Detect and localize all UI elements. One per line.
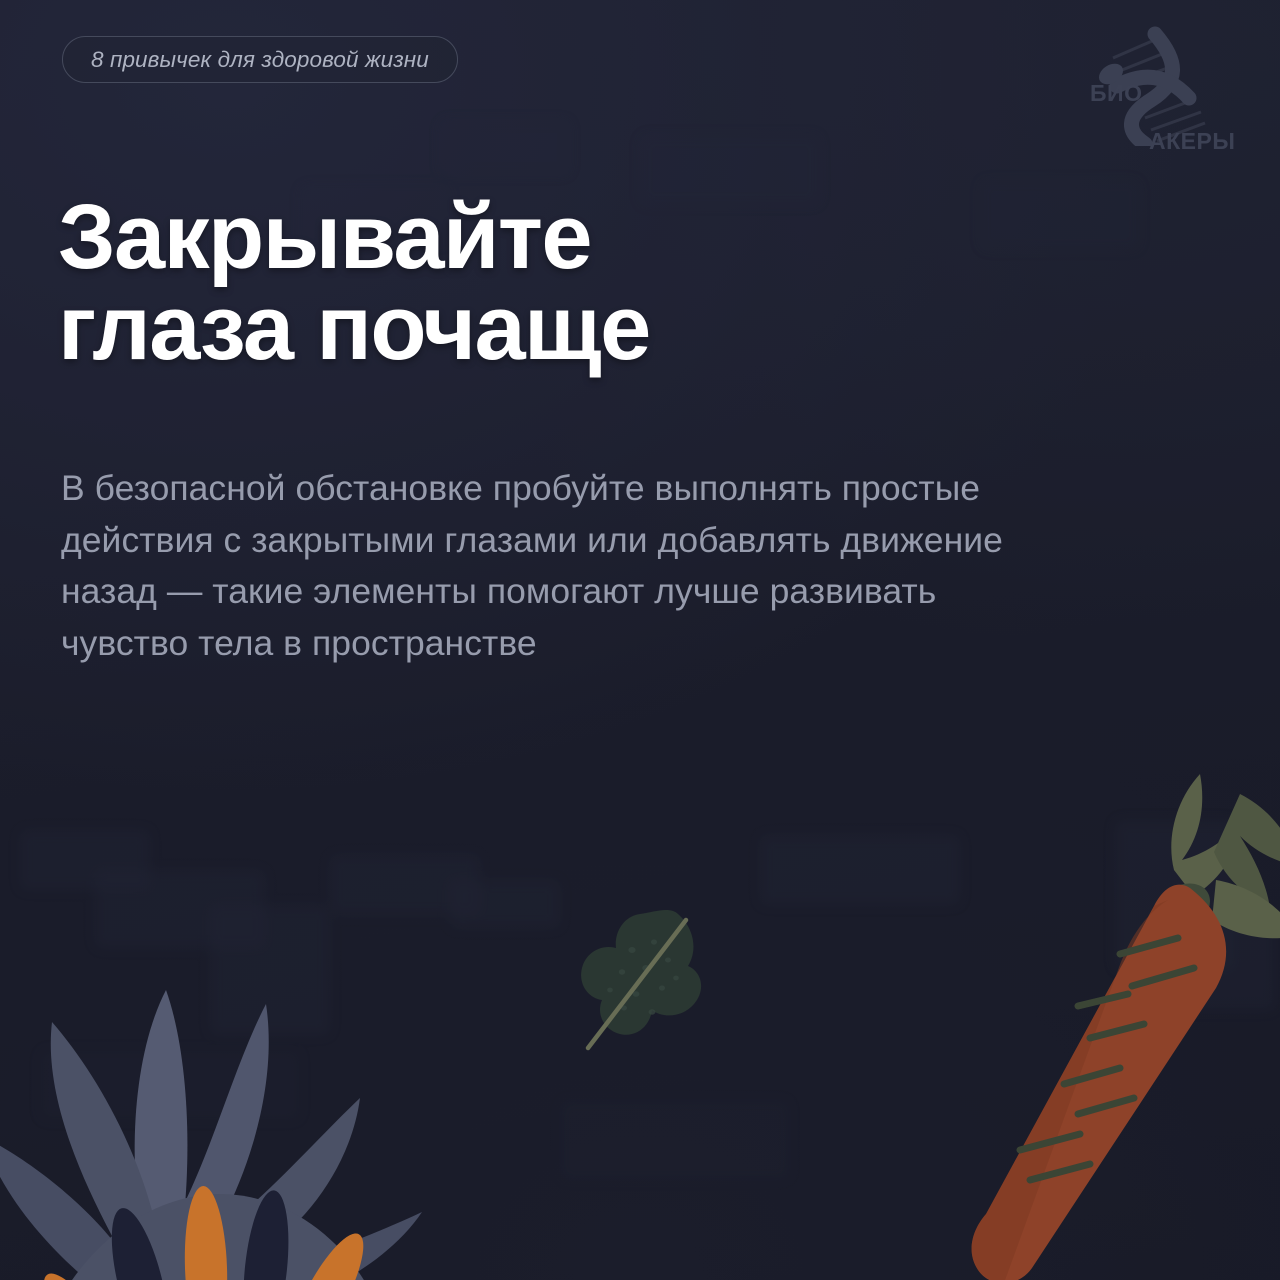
badge-label: 8 привычек для здоровой жизни (91, 47, 429, 73)
carrot-greens (1145, 774, 1280, 943)
brand-logo[interactable]: БИО АКЕРЫ (1045, 26, 1260, 146)
page-title: Закрывайте глаза почаще (58, 192, 998, 374)
carrot-stripes (1020, 938, 1194, 1180)
logo-word-bio: БИО (1090, 80, 1142, 107)
body-paragraph: В безопасной обстановке пробуйте выполня… (61, 463, 1071, 670)
page-title-line-2: глаза почаще (58, 283, 998, 374)
slide-canvas: 8 привычек для здоровой жизни БИО АКЕРЫ … (0, 0, 1280, 1280)
oak-leaf-illustration (566, 898, 716, 1063)
logo-word-hackers: АКЕРЫ (1149, 128, 1235, 155)
flower-illustration (0, 986, 440, 1280)
flower-outer-petals (0, 990, 422, 1280)
flower-inner-petals (32, 1185, 377, 1280)
carrot-illustration (968, 730, 1280, 1280)
habit-count-badge[interactable]: 8 привычек для здоровой жизни (62, 36, 458, 83)
carrot-body (972, 885, 1227, 1280)
page-title-line-1: Закрывайте (58, 186, 591, 288)
